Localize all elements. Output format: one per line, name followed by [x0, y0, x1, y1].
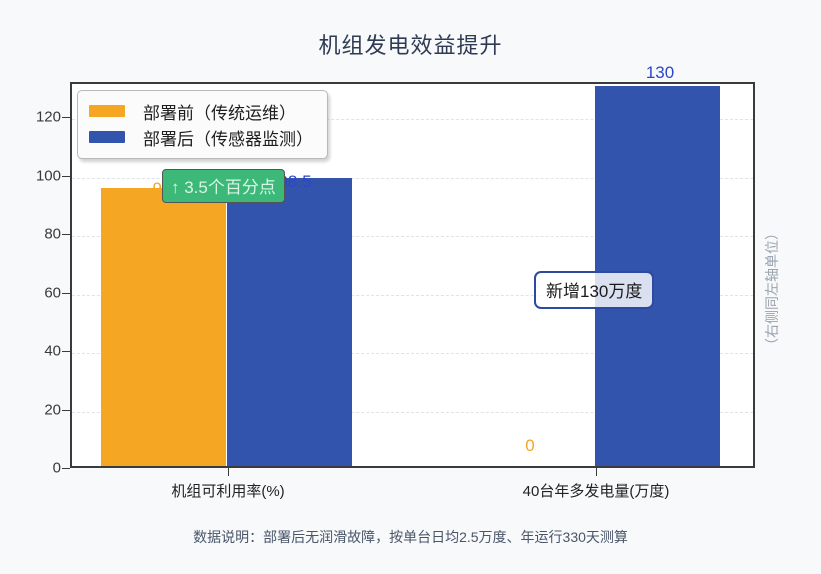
y-tick-mark-100 — [62, 176, 70, 177]
y-tick-mark-80 — [62, 234, 70, 235]
legend-item-after[interactable]: 部署后（传感器监测） — [89, 124, 313, 150]
y-tick-label-40: 40 — [0, 343, 61, 360]
chart-figure: 机组发电效益提升 0 20 40 60 80 100 120 95 98.5 0… — [0, 0, 821, 574]
chart-footnote: 数据说明：部署后无润滑故障，按单台日均2.5万度、年运行330天测算 — [0, 527, 821, 547]
right-axis-caption: （右侧同左轴单位） — [762, 226, 782, 352]
bar-after-availability[interactable] — [227, 178, 352, 466]
bar-before-availability[interactable] — [101, 188, 226, 466]
y-tick-mark-0 — [62, 468, 70, 469]
y-tick-label-60: 60 — [0, 284, 61, 301]
legend-item-before[interactable]: 部署前（传统运维） — [89, 98, 313, 124]
x-tick-label-availability: 机组可利用率(%) — [171, 480, 284, 501]
annotation-generation-gain: 新增130万度 — [534, 271, 654, 309]
legend[interactable]: 部署前（传统运维） 部署后（传感器监测） — [77, 90, 328, 159]
bar-value-before-generation: 0 — [525, 436, 534, 456]
y-tick-label-20: 20 — [0, 401, 61, 418]
y-tick-mark-120 — [62, 117, 70, 118]
bar-value-after-generation: 130 — [646, 63, 674, 83]
y-tick-mark-60 — [62, 293, 70, 294]
legend-swatch-after-icon — [89, 131, 125, 143]
y-tick-mark-20 — [62, 410, 70, 411]
y-tick-mark-40 — [62, 351, 70, 352]
y-tick-label-80: 80 — [0, 226, 61, 243]
x-tick-label-generation: 40台年多发电量(万度) — [523, 480, 670, 501]
chart-title: 机组发电效益提升 — [0, 28, 821, 60]
x-tick-mark-availability — [228, 468, 229, 476]
legend-label-after: 部署后（传感器监测） — [143, 125, 313, 150]
legend-swatch-before-icon — [89, 105, 125, 117]
x-tick-mark-generation — [596, 468, 597, 476]
y-tick-label-120: 120 — [0, 109, 61, 126]
y-tick-label-100: 100 — [0, 167, 61, 184]
legend-label-before: 部署前（传统运维） — [143, 99, 296, 124]
y-tick-label-0: 0 — [0, 460, 61, 477]
annotation-availability-gain: ↑ 3.5个百分点 — [162, 169, 285, 203]
